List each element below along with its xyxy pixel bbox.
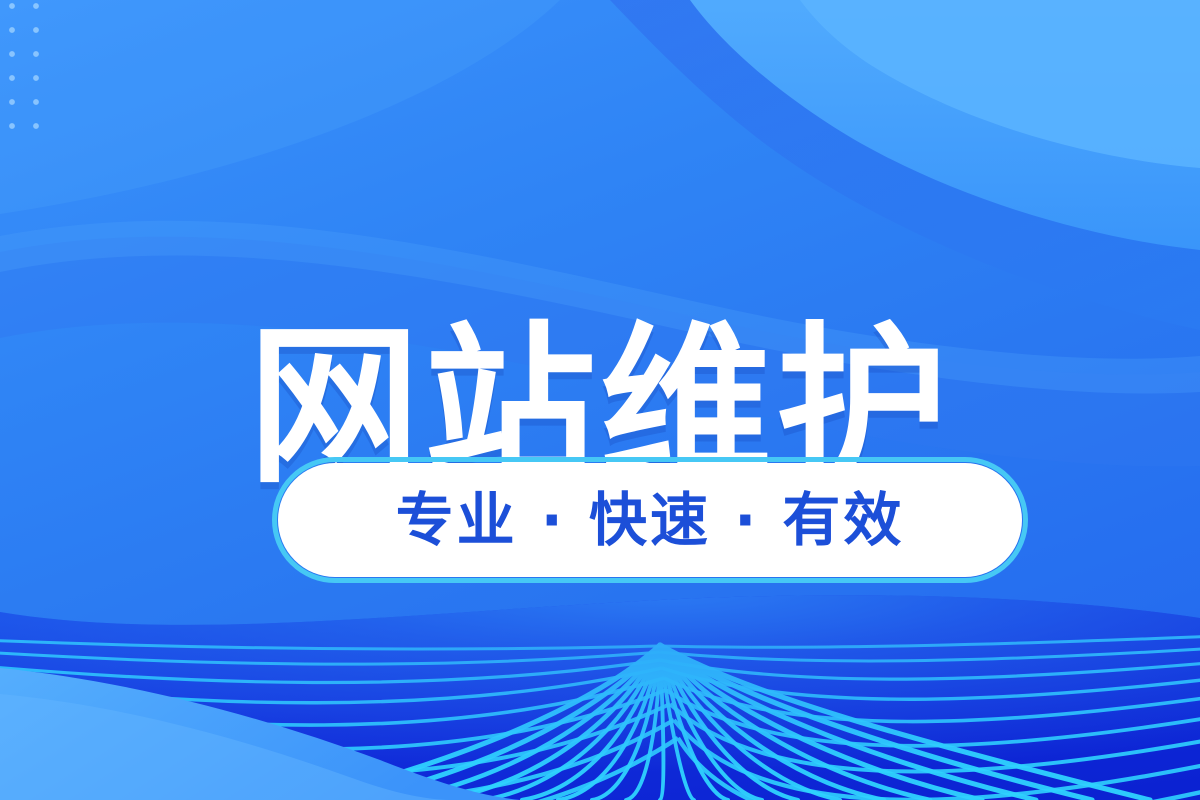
subtitle-text: 专业 · 快速 · 有效 [396,491,905,549]
website-maintenance-banner: 网站维护 专业 · 快速 · 有效 [0,0,1200,800]
subtitle-pill-body: 专业 · 快速 · 有效 [278,463,1022,577]
banner-content: 网站维护 专业 · 快速 · 有效 [0,0,1200,800]
subtitle-pill: 专业 · 快速 · 有效 [272,457,1028,583]
